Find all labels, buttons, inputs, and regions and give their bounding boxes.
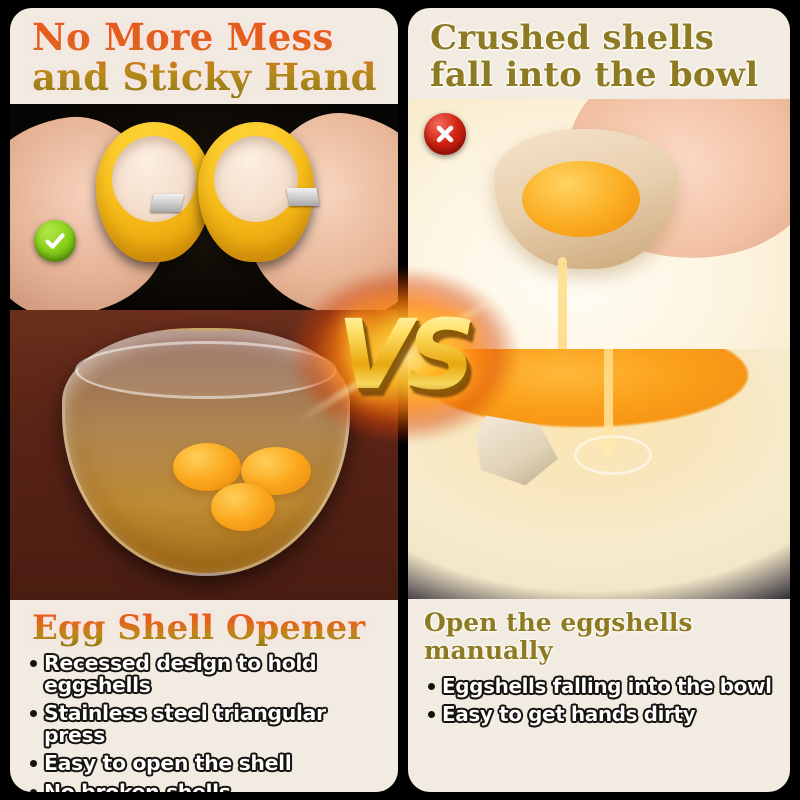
left-panel-header: No More Mess and Sticky Hand: [10, 8, 398, 104]
opener-cup-left: [96, 122, 212, 262]
left-panel-heading: No More Mess and Sticky Hand: [32, 18, 384, 98]
bowl-rim: [75, 341, 337, 399]
left-feature-list: Recessed design to hold eggshells Stainl…: [26, 653, 388, 792]
list-item: Easy to open the shell: [30, 753, 388, 775]
list-item-label: Eggshells falling into the bowl: [442, 676, 772, 697]
bullet-dot-icon: [428, 711, 435, 718]
manual-cracking-photo: [408, 99, 790, 349]
glass-bowl: [62, 328, 350, 576]
list-item-label: Stainless steel triangular press: [44, 703, 388, 746]
right-drawback-list: Eggshells falling into the bowl Easy to …: [424, 676, 780, 725]
check-icon: [34, 220, 76, 262]
bullet-dot-icon: [30, 789, 37, 792]
opener-cup-right-recess: [214, 136, 298, 222]
left-footer-title: Egg Shell Opener: [26, 610, 388, 647]
egg-opener-tool: [96, 122, 314, 274]
shells-in-bowl-photo: [408, 349, 790, 599]
list-item-label: Easy to open the shell: [44, 753, 291, 775]
right-footer-title: Open the eggshells manually: [424, 609, 780, 664]
list-item: Easy to get hands dirty: [428, 704, 780, 725]
list-item-label: Recessed design to hold eggshells: [44, 653, 388, 696]
yolks-in-bowl-photo: [10, 310, 398, 600]
right-panel-heading: Crushed shells fall into the bowl: [430, 20, 776, 93]
broken-shell-fragment: [476, 415, 558, 485]
bullet-dot-icon: [30, 710, 37, 717]
left-panel-footer: Egg Shell Opener Recessed design to hold…: [10, 600, 398, 792]
right-panel-header: Crushed shells fall into the bowl: [408, 8, 790, 99]
bullet-dot-icon: [30, 660, 37, 667]
right-panel-footer: Open the eggshells manually Eggshells fa…: [408, 599, 790, 740]
left-comparison-panel: No More Mess and Sticky Hand: [10, 8, 398, 792]
right-comparison-panel: Crushed shells fall into the bowl Open t…: [408, 8, 790, 792]
list-item-label: No broken shells: [44, 782, 231, 792]
list-item: Stainless steel triangular press: [30, 703, 388, 746]
cross-icon: [424, 113, 466, 155]
comparison-infographic: No More Mess and Sticky Hand: [0, 0, 800, 800]
liquid-ripple: [574, 435, 652, 475]
spilled-yolks: [418, 349, 748, 427]
bullet-dot-icon: [30, 760, 37, 767]
list-item: No broken shells: [30, 782, 388, 792]
egg-yolk: [211, 483, 275, 531]
list-item-label: Easy to get hands dirty: [442, 704, 695, 725]
egg-yolk: [522, 161, 640, 237]
egg-white-drip: [558, 257, 567, 349]
list-item: Recessed design to hold eggshells: [30, 653, 388, 696]
triangular-press-right: [286, 188, 319, 206]
opener-cup-right: [198, 122, 314, 262]
egg-opener-photo: [10, 104, 398, 310]
triangular-press-left: [150, 194, 184, 212]
list-item: Eggshells falling into the bowl: [428, 676, 780, 697]
bullet-dot-icon: [428, 683, 435, 690]
